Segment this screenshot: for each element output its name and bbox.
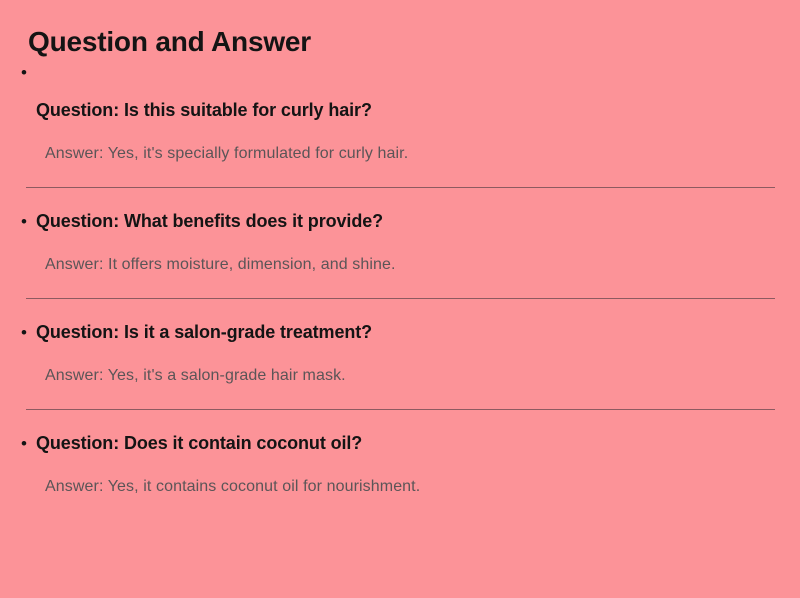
qa-question-text: Question: Is this suitable for curly hai… [36,100,372,120]
qa-answer-text: Answer: Yes, it's a salon-grade hair mas… [0,346,800,388]
bullet-icon: • [21,430,27,457]
qa-block: • Question: Is this suitable for curly h… [0,59,800,188]
qa-question-text: Question: Is it a salon-grade treatment? [36,322,372,342]
qa-block: • Question: Does it contain coconut oil?… [0,410,800,499]
qa-question-text: Question: Does it contain coconut oil? [36,433,362,453]
qa-spacer [0,410,800,430]
qa-question-row: • Question: Is this suitable for curly h… [0,59,800,124]
bullet-icon: • [21,59,27,86]
bullet-icon: • [21,319,27,346]
bullet-icon: • [21,208,27,235]
qa-answer-text: Answer: Yes, it contains coconut oil for… [0,457,800,499]
qa-answer-text: Answer: Yes, it's specially formulated f… [0,124,800,166]
qa-question-text: Question: What benefits does it provide? [36,211,383,231]
qa-answer-text: Answer: It offers moisture, dimension, a… [0,235,800,277]
qa-question-row: • Question: Does it contain coconut oil? [0,430,800,457]
qa-spacer [0,299,800,319]
qa-block: • Question: What benefits does it provid… [0,188,800,299]
qa-list: • Question: Is this suitable for curly h… [0,59,800,499]
page-title: Question and Answer [0,0,800,59]
qa-question-row: • Question: What benefits does it provid… [0,208,800,235]
qa-block: • Question: Is it a salon-grade treatmen… [0,299,800,410]
qa-page: Question and Answer • Question: Is this … [0,0,800,598]
qa-spacer [0,188,800,208]
qa-question-row: • Question: Is it a salon-grade treatmen… [0,319,800,346]
